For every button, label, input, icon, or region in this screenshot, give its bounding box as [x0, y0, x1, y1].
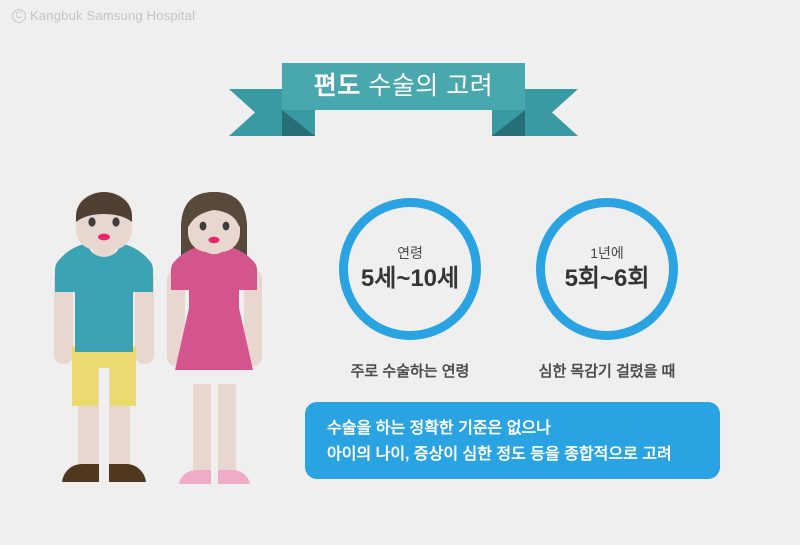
copyright-icon: C — [12, 9, 26, 23]
girl-leg-right — [218, 384, 236, 472]
girl-eye-right — [223, 222, 230, 231]
page-title-rest: 수술의 고려 — [361, 72, 493, 100]
boy-eye-left — [88, 217, 95, 226]
girl-shoe-right — [218, 470, 250, 484]
summary-line-2: 아이의 나이, 증상이 심한 정도 등을 종합적으로 고려 — [327, 442, 720, 468]
stat-frequency-value: 5회~6회 — [565, 266, 650, 292]
boy-eye-right — [112, 217, 119, 226]
summary-line-1: 수술을 하는 정확한 기준은 없으나 — [327, 416, 720, 442]
stat-frequency-caption: 심한 목감기 걸렸을 때 — [527, 360, 687, 381]
girl-shoe-left — [179, 470, 211, 484]
girl-eye-left — [200, 222, 207, 231]
stat-age: 연령 5세~10세 주로 수술하는 연령 — [330, 198, 490, 381]
stat-age-sublabel: 연령 — [397, 246, 423, 261]
stat-frequency-sublabel: 1년에 — [590, 246, 624, 261]
ribbon-band: 편도 수술의 고려 — [282, 63, 525, 110]
boy-character — [48, 186, 160, 498]
copyright-credit: C Kangbuk Samsung Hospital — [12, 8, 195, 23]
stat-age-caption: 주로 수술하는 연령 — [330, 360, 490, 381]
stat-frequency: 1년에 5회~6회 심한 목감기 걸렸을 때 — [527, 198, 687, 381]
stat-age-ring: 연령 5세~10세 — [339, 198, 481, 340]
boy-mouth — [98, 234, 110, 241]
summary-callout: 수술을 하는 정확한 기준은 없으나 아이의 나이, 증상이 심한 정도 등을 … — [305, 402, 720, 479]
boy-shorts — [72, 346, 136, 406]
stat-age-value: 5세~10세 — [361, 266, 459, 292]
infographic-canvas: C Kangbuk Samsung Hospital 편도 수술의 고려 — [0, 0, 800, 545]
page-title: 편도 수술의 고려 — [314, 74, 493, 99]
stat-frequency-ring: 1년에 5회~6회 — [536, 198, 678, 340]
credit-text: Kangbuk Samsung Hospital — [30, 8, 195, 23]
page-title-strong: 편도 — [314, 72, 361, 100]
title-ribbon: 편도 수술의 고려 — [229, 63, 578, 145]
boy-shoe-right — [109, 464, 146, 482]
girl-leg-left — [193, 384, 211, 472]
girl-mouth — [208, 237, 219, 243]
boy-shoe-left — [62, 464, 99, 482]
girl-character — [159, 184, 269, 498]
